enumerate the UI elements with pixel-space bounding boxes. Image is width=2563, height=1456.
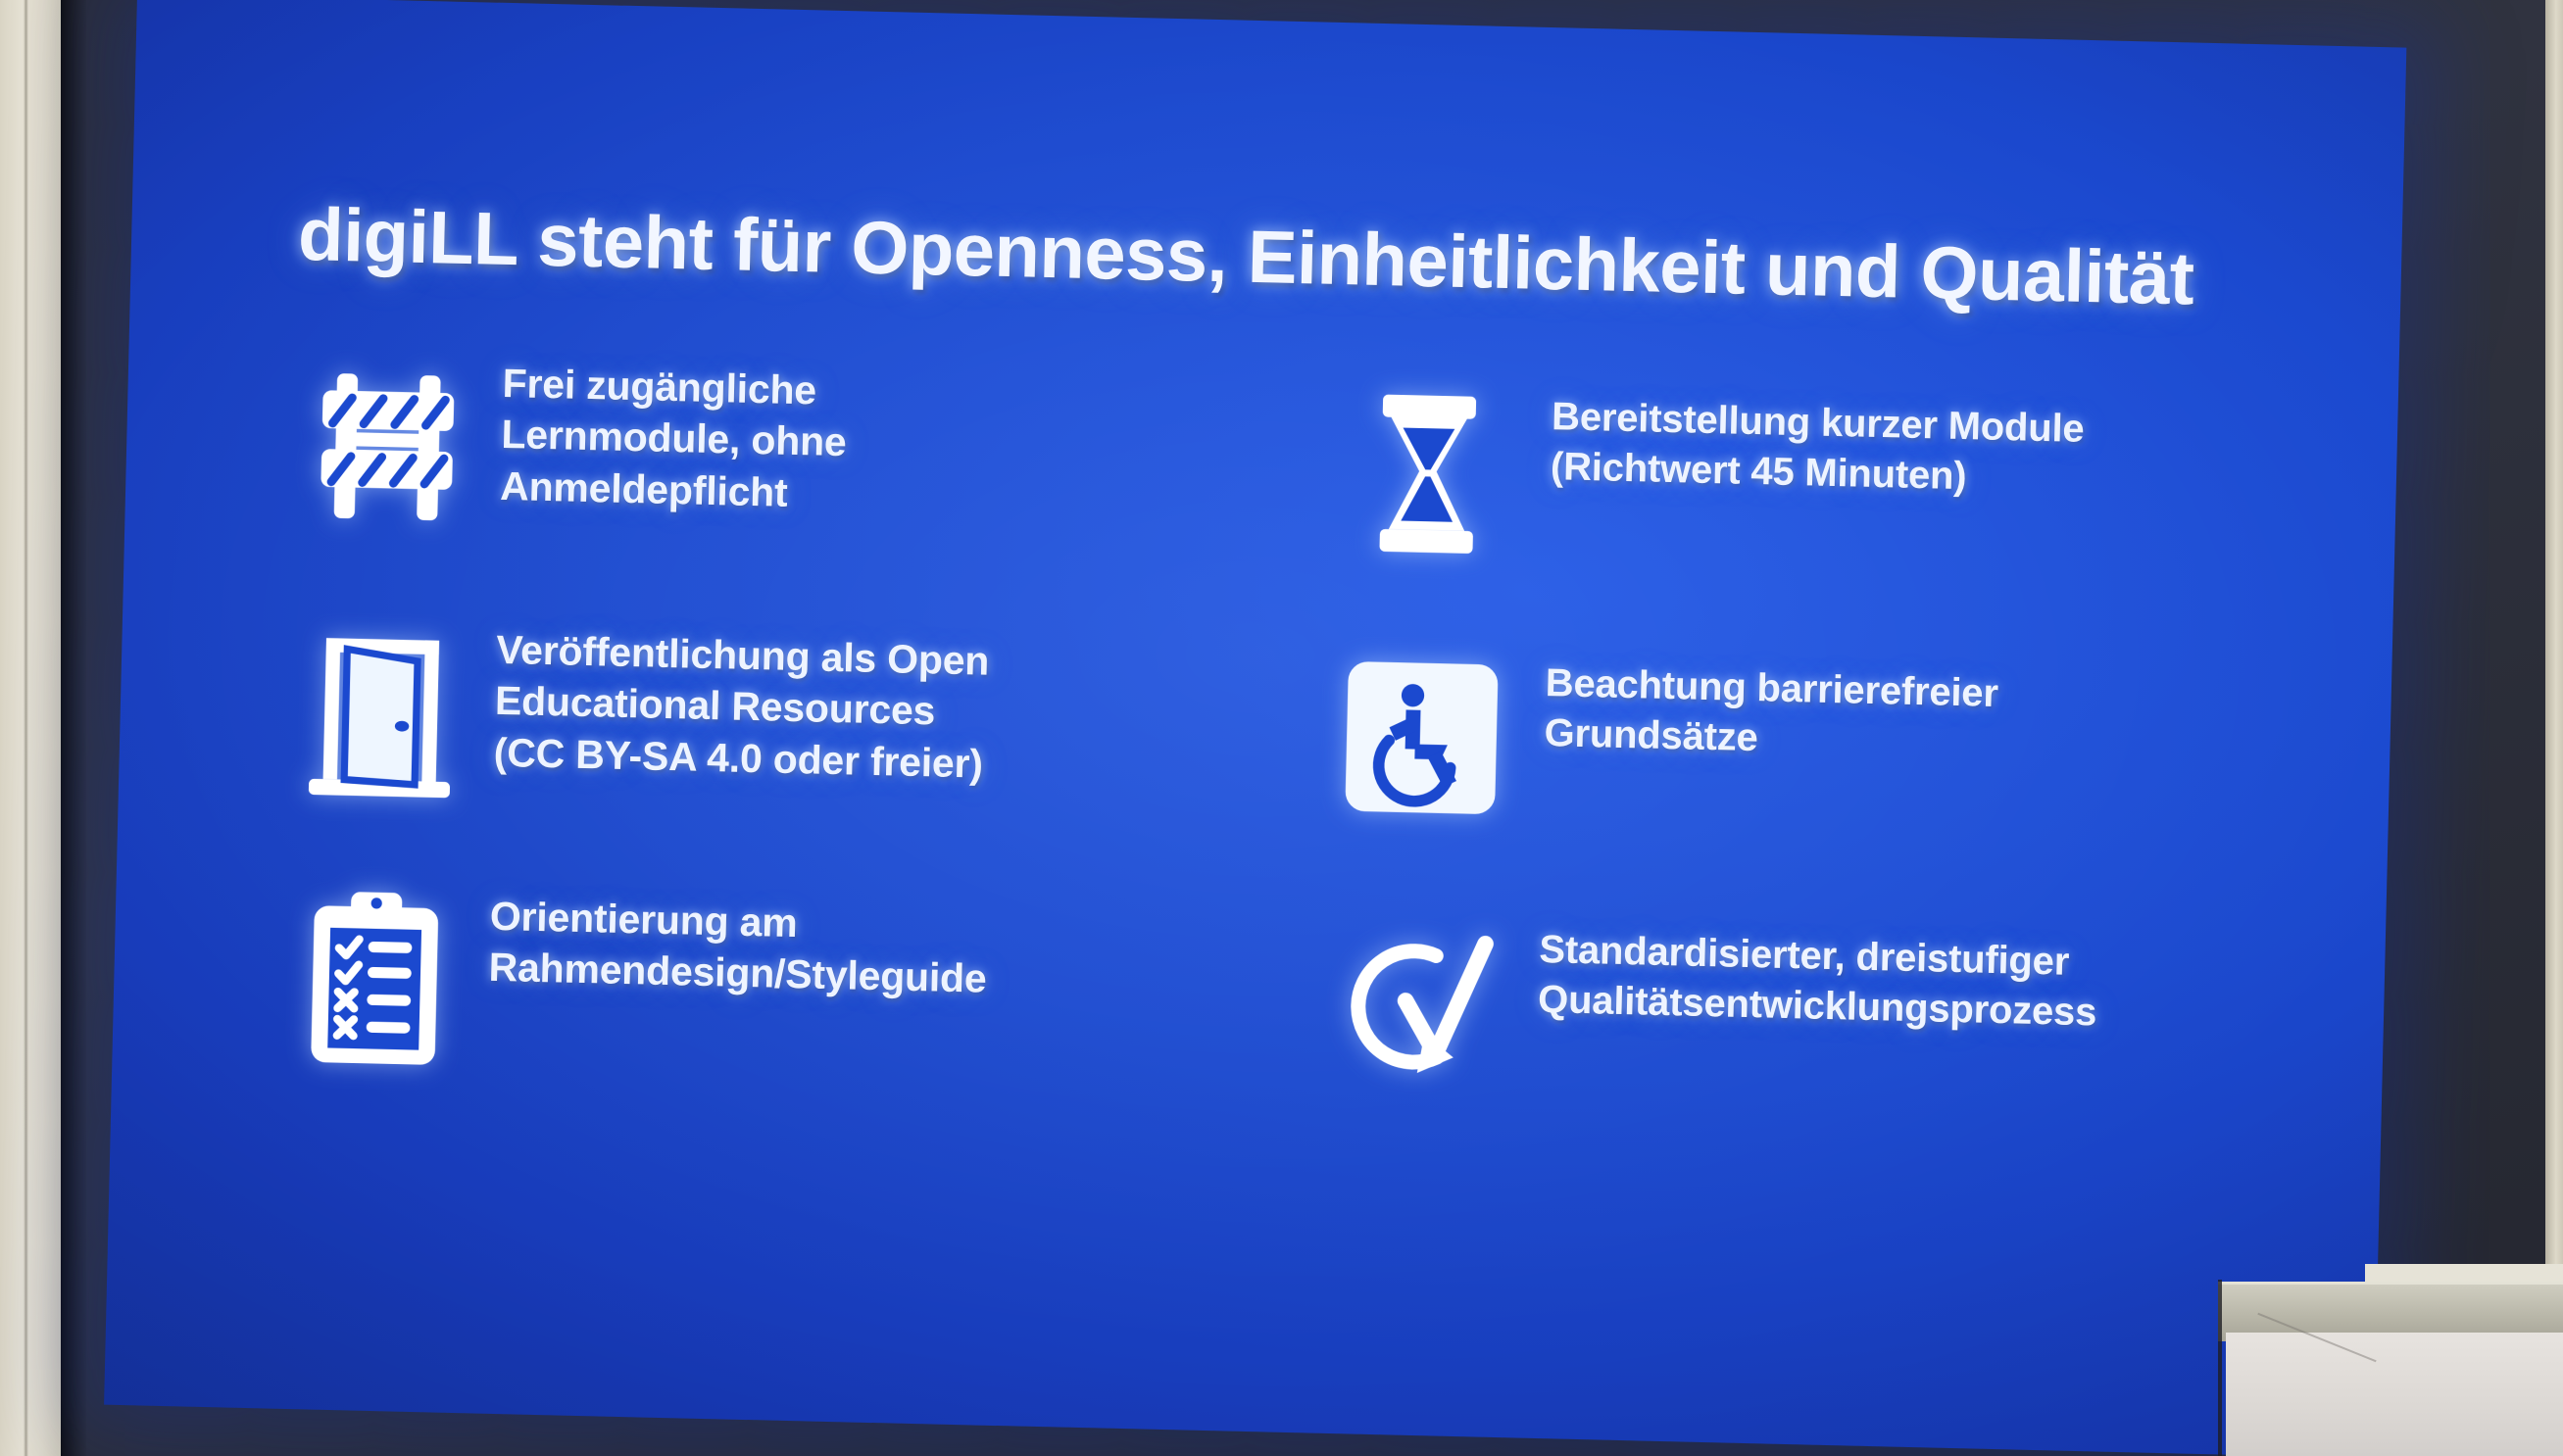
road-barrier-icon [271, 346, 504, 547]
photo-of-projected-slide: digiLL steht für Openness, Einheitlichke… [0, 0, 2563, 1456]
feature-line: Lernmodule, ohne [501, 409, 847, 468]
feature-item-text: Beachtung barrierefreier Grundsätze [1544, 643, 1999, 769]
feature-item-bereitstellung-kurzer-module: Bereitstellung kurzer Module (Richtwert … [1302, 370, 2275, 659]
wall-left [0, 0, 61, 1456]
feature-line: Rahmendesign/Styleguide [488, 942, 987, 1004]
flipchart-easel [2218, 1264, 2563, 1456]
feature-line: (CC BY-SA 4.0 oder freier) [493, 727, 987, 790]
feature-item-beachtung-barrierefreier-grundsaetze: Beachtung barrierefreier Grundsätze [1295, 637, 2268, 926]
hourglass-icon [1304, 370, 1553, 572]
feature-item-frei-zugaengliche-lernmodule: Frei zugängliche Lernmodule, ohne Anmeld… [270, 346, 1243, 635]
feature-line: Frei zugängliche [502, 358, 848, 417]
feature-item-text: Standardisierter, dreistufiger Qualitäts… [1538, 909, 2099, 1039]
feature-line: Anmeldepflicht [500, 461, 846, 520]
feature-item-orientierung-am-rahmendesign: Orientierung am Rahmendesign/Styleguide [257, 879, 1230, 1168]
bezel-shadow [57, 0, 86, 1456]
feature-item-qualitaetsentwicklungsprozess: Standardisierter, dreistufiger Qualitäts… [1289, 903, 2262, 1192]
flipchart-paper [2226, 1333, 2563, 1456]
flipchart-top-strip [2365, 1264, 2563, 1284]
feature-item-veroeffentlichung-als-oer: Veröffentlichung als Open Educational Re… [264, 612, 1237, 901]
wall-right [2545, 0, 2563, 1456]
flipchart-edge [2218, 1280, 2222, 1456]
feature-item-text: Bereitstellung kurzer Module (Richtwert … [1550, 376, 2085, 505]
feature-grid: Frei zugängliche Lernmodule, ohne Anmeld… [257, 346, 2275, 1192]
clipboard-checklist-icon [259, 879, 491, 1080]
feature-item-text: Orientierung am Rahmendesign/Styleguide [488, 885, 988, 1005]
open-door-icon [265, 612, 497, 813]
feature-item-text: Frei zugängliche Lernmodule, ohne Anmeld… [500, 352, 849, 520]
wheelchair-accessibility-icon [1297, 637, 1547, 839]
projected-slide: digiLL steht für Openness, Einheitlichke… [104, 0, 2406, 1456]
feature-line: Grundsätze [1544, 708, 1997, 769]
wall-seam [24, 0, 28, 1456]
page-title: digiLL steht für Openness, Einheitlichke… [297, 192, 2278, 324]
feature-item-text: Veröffentlichung als Open Educational Re… [493, 618, 990, 790]
cycle-check-icon [1291, 903, 1541, 1105]
